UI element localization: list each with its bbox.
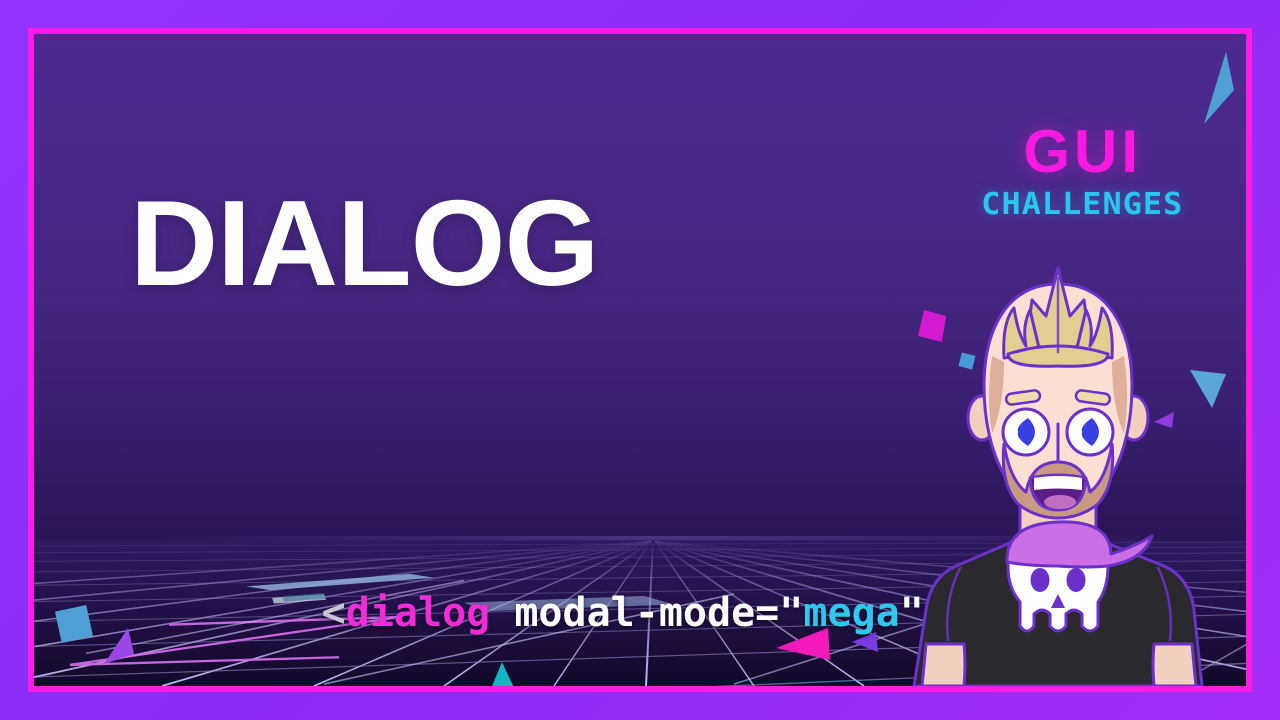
code-snippet: <dialog modal-mode="mega"> <dialog modal… xyxy=(129,427,948,686)
avatar xyxy=(908,266,1208,686)
gui-challenges-logo: GUI CHALLENGES xyxy=(987,122,1178,220)
code-attribute-name: modal-mode xyxy=(514,590,755,636)
avatar-illustration xyxy=(908,266,1208,686)
magenta-frame-border: DIALOG <dialog modal-mode="mega"> <dialo… xyxy=(28,28,1252,692)
logo-secondary-text: CHALLENGES xyxy=(982,190,1184,220)
logo-primary-text: GUI xyxy=(987,122,1178,182)
slide-stage: DIALOG <dialog modal-mode="mega"> <dialo… xyxy=(34,34,1246,686)
code-open-quote: " xyxy=(779,590,803,636)
confetti-blue-square-bottom-left xyxy=(50,600,106,656)
code-equals: = xyxy=(755,590,779,636)
confetti-blue-triangle-top-right xyxy=(1174,46,1244,136)
page-title: DIALOG xyxy=(130,182,598,304)
code-tag-name: dialog xyxy=(346,590,491,636)
code-attribute-value: mega xyxy=(803,590,899,636)
code-space xyxy=(490,590,514,636)
code-open-bracket: < xyxy=(322,590,346,636)
code-line-mega: <dialog modal-mode="mega"> xyxy=(129,533,948,686)
